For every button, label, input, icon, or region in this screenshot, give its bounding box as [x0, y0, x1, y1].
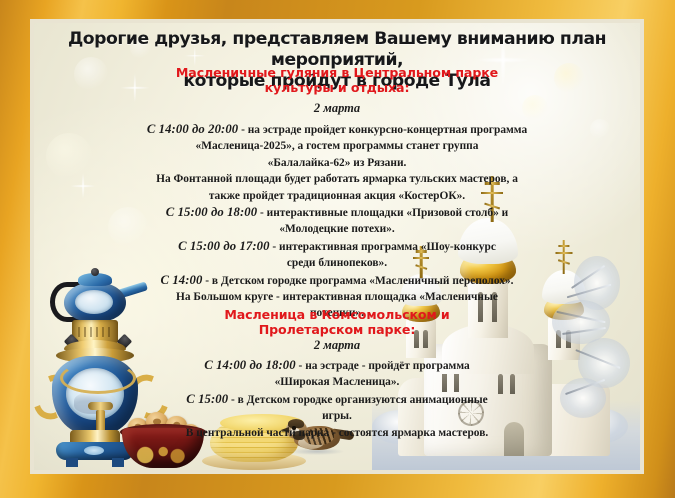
event-line: среди блинопеков».: [38, 255, 636, 271]
event-text: - интерактивные площадки «Призовой столб…: [257, 207, 508, 219]
event-text: - в Детском городке программа «Масленичн…: [202, 275, 513, 287]
event-text: «Молодецкие потехи».: [279, 223, 394, 235]
event-text: На Фонтанной площади будет работать ярма…: [156, 173, 518, 185]
section-heading-central-park: Масленичные гуляния в Центральном парке …: [34, 65, 640, 95]
title-line-1: Дорогие друзья, представляем Вашему вним…: [68, 29, 606, 70]
event-line: С 15:00 - в Детском городке организуются…: [38, 391, 636, 408]
event-text: среди блинопеков».: [287, 257, 387, 269]
event-text: - в Детском городке организуются анимаци…: [228, 394, 488, 406]
event-line: «Масленица-2025», а гостем программы ста…: [38, 138, 636, 154]
event-text: «Масленица-2025», а гостем программы ста…: [196, 140, 479, 152]
event-time: С 15:00 до 18:00: [166, 205, 257, 219]
event-time: С 14:00 до 20:00: [147, 122, 238, 136]
event-line: С 14:00 - в Детском городке программа «М…: [38, 272, 636, 289]
poster-canvas: Дорогие друзья, представляем Вашему вним…: [34, 23, 640, 470]
section-heading-line-2: культуры и отдыха:: [34, 80, 640, 95]
section-date-central-park: 2 марта: [34, 101, 640, 116]
event-line: С 15:00 до 17:00 - интерактивная програм…: [38, 238, 636, 255]
event-line: На Большом круге - интерактивная площадк…: [38, 289, 636, 305]
event-line: игры.: [38, 408, 636, 424]
event-time: С 14:00: [161, 273, 203, 287]
section-heading-komsomolsky-park: Масленица в Комсомольском и Пролетарском…: [34, 307, 640, 337]
event-line: «Молодецкие потехи».: [38, 221, 636, 237]
event-time: С 14:00 до 18:00: [204, 358, 295, 372]
event-line: С 15:00 до 18:00 - интерактивные площадк…: [38, 204, 636, 221]
event-text: В центральной части парка - состоятся яр…: [186, 427, 488, 439]
event-line: также пройдет традиционная акция «Костер…: [38, 188, 636, 204]
event-text: «Широкая Масленица».: [275, 376, 400, 388]
event-time: С 15:00: [186, 392, 228, 406]
section-heading-line-1: Масленица в Комсомольском и: [34, 307, 640, 322]
event-line: «Широкая Масленица».: [38, 374, 636, 390]
event-text: - на эстраде - пройдёт программа: [296, 360, 470, 372]
event-text: «Балалайка-62» из Рязани.: [268, 157, 407, 169]
section-heading-line-2: Пролетарском парке:: [34, 322, 640, 337]
event-text: - интерактивная программа «Шоу-конкурс: [270, 241, 496, 253]
event-text: игры.: [322, 410, 352, 422]
poster-text-layer: Дорогие друзья, представляем Вашему вним…: [34, 23, 640, 470]
event-line: С 14:00 до 20:00 - на эстраде пройдет ко…: [38, 121, 636, 138]
section-body-komsomolsky-park: С 14:00 до 18:00 - на эстраде - пройдёт …: [38, 357, 636, 441]
event-time: С 15:00 до 17:00: [178, 239, 269, 253]
event-text: На Большом круге - интерактивная площадк…: [176, 291, 498, 303]
section-body-central-park: С 14:00 до 20:00 - на эстраде пройдет ко…: [38, 121, 636, 322]
event-line: С 14:00 до 18:00 - на эстраде - пройдёт …: [38, 357, 636, 374]
event-text: также пройдет традиционная акция «Костер…: [209, 190, 465, 202]
maslenitsa-poster: Дорогие друзья, представляем Вашему вним…: [0, 0, 675, 498]
event-line: На Фонтанной площади будет работать ярма…: [38, 171, 636, 187]
event-line: «Балалайка-62» из Рязани.: [38, 155, 636, 171]
section-heading-line-1: Масленичные гуляния в Центральном парке: [34, 65, 640, 80]
event-text: - на эстраде пройдет конкурсно-концертна…: [238, 124, 527, 136]
event-line: В центральной части парка - состоятся яр…: [38, 425, 636, 441]
section-date-komsomolsky-park: 2 марта: [34, 338, 640, 353]
